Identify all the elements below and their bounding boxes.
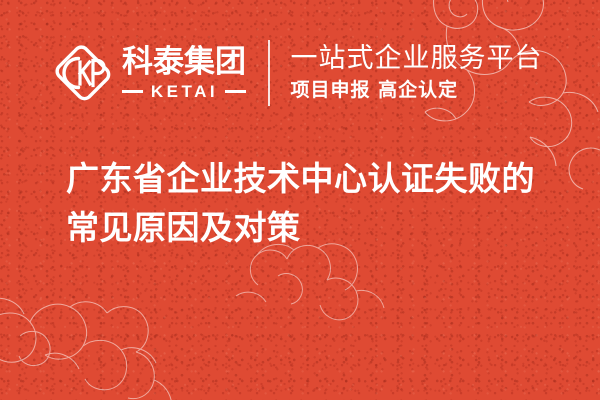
tagline-main: 一站式企业服务平台 bbox=[291, 44, 543, 74]
wordmark-rule-left bbox=[122, 90, 143, 93]
brand-wordmark: 科泰集团 KETAI bbox=[122, 47, 246, 100]
bottom-center-cloud-icon bbox=[236, 244, 384, 320]
page-title: 广东省企业技术中心认证失败的常见原因及对策 bbox=[66, 155, 544, 253]
tagline-block: 一站式企业服务平台 项目申报 高企认定 bbox=[291, 44, 543, 102]
tagline-sub: 项目申报 高企认定 bbox=[291, 80, 543, 102]
brand-logo[interactable]: 科泰集团 KETAI bbox=[55, 45, 246, 101]
brand-name-en: KETAI bbox=[150, 83, 218, 100]
brand-name-en-row: KETAI bbox=[122, 83, 246, 100]
header-divider bbox=[268, 40, 270, 106]
brand-name-cn: 科泰集团 bbox=[122, 47, 246, 78]
banner-header: 科泰集团 KETAI 一站式企业服务平台 项目申报 高企认定 bbox=[55, 36, 543, 110]
ketai-diamond-monogram-icon bbox=[55, 45, 111, 101]
promo-banner: 科泰集团 KETAI 一站式企业服务平台 项目申报 高企认定 广东省企业技术中心… bbox=[0, 0, 600, 400]
bottom-left-cloud-icon bbox=[0, 298, 172, 400]
wordmark-rule-right bbox=[225, 90, 246, 93]
